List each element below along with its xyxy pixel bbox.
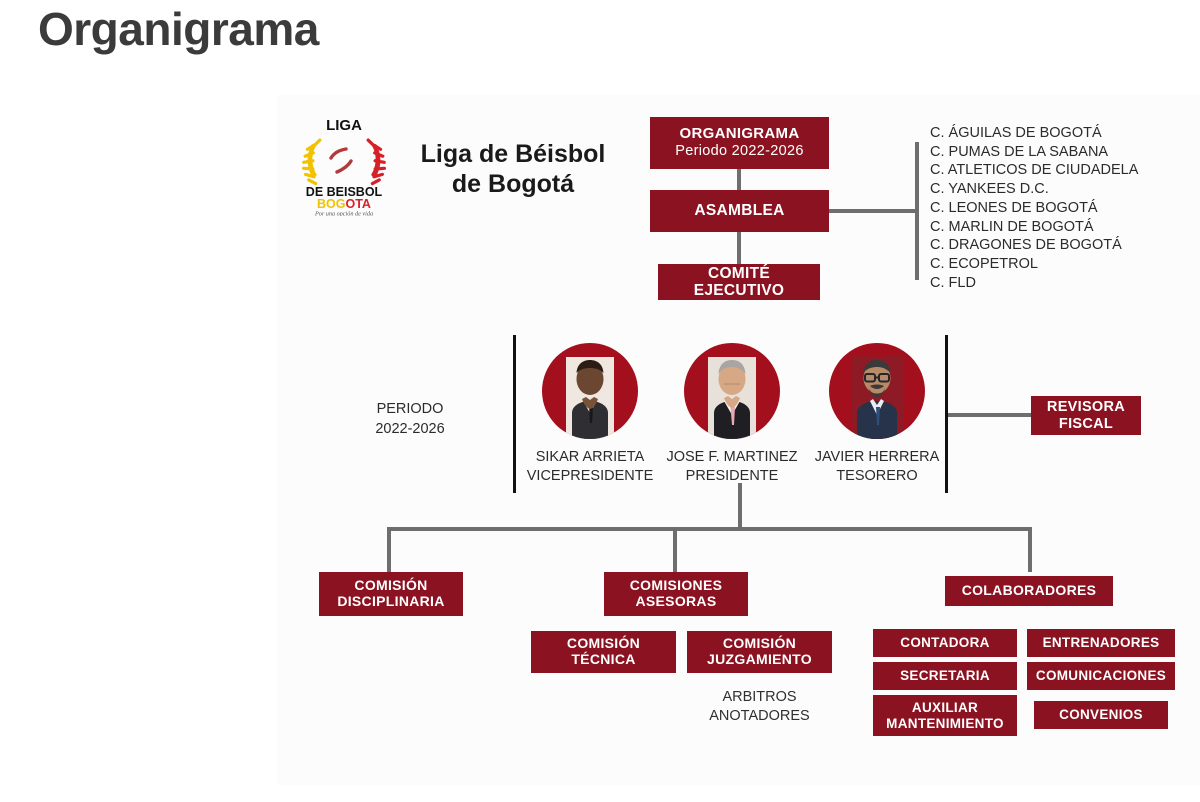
box-comision-juzgamiento[interactable]: COMISIÓN JUZGAMIENTO <box>687 631 832 673</box>
advisory-note-arbitros: ARBITROS <box>687 688 832 707</box>
svg-text:Por una opción de vida: Por una opción de vida <box>314 211 373 217</box>
list-item: C. LEONES DE BOGOTÁ <box>930 199 1138 218</box>
organization-name: Liga de Béisbol de Bogotá <box>398 140 628 199</box>
box-contadora[interactable]: CONTADORA <box>873 629 1017 657</box>
revisora-fiscal-line-2: FISCAL <box>1059 416 1113 432</box>
list-item: C. YANKEES D.C. <box>930 180 1138 199</box>
box-comite-ejecutivo[interactable]: COMITÉ EJECUTIVO <box>658 264 820 300</box>
portrait-sikar-arrieta <box>542 343 638 439</box>
list-item: C. MARLIN DE BOGOTÁ <box>930 218 1138 237</box>
comisiones-asesoras-line-1: COMISIONES <box>630 578 722 594</box>
box-comunicaciones[interactable]: COMUNICACIONES <box>1027 662 1175 690</box>
organigrama-header-line-1: ORGANIGRAMA <box>680 126 800 143</box>
period-label: PERIODO 2022-2026 <box>370 399 450 440</box>
box-revisora-fiscal[interactable]: REVISORA FISCAL <box>1031 396 1141 435</box>
list-item: C. FLD <box>930 274 1138 293</box>
contadora-label: CONTADORA <box>900 635 989 650</box>
connector-president-drop <box>738 483 742 531</box>
connector-header-to-asamblea <box>737 169 741 190</box>
avatar <box>684 343 780 439</box>
advisory-notes: ARBITROS ANOTADORES <box>687 688 832 726</box>
person-role: PRESIDENTE <box>657 467 807 486</box>
person-card-vicepresidente[interactable]: SIKAR ARRIETA VICEPRESIDENTE <box>515 343 665 485</box>
box-entrenadores[interactable]: ENTRENADORES <box>1027 629 1175 657</box>
avatar <box>542 343 638 439</box>
person-name: SIKAR ARRIETA <box>515 448 665 467</box>
comision-disciplinaria-line-1: COMISIÓN <box>354 578 427 594</box>
connector-branch-bus <box>387 527 1032 531</box>
person-card-tesorero[interactable]: JAVIER HERRERA TESORERO <box>802 343 952 485</box>
club-list: C. ÁGUILAS DE BOGOTÁ C. PUMAS DE LA SABA… <box>930 124 1138 292</box>
list-item: C. PUMAS DE LA SABANA <box>930 143 1138 162</box>
list-item: C. DRAGONES DE BOGOTÁ <box>930 236 1138 255</box>
connector-drop-asesoras <box>673 527 677 572</box>
box-auxiliar-mantenimiento[interactable]: AUXILIAR MANTENIMIENTO <box>873 695 1017 736</box>
box-colaboradores[interactable]: COLABORADORES <box>945 576 1113 606</box>
comision-disciplinaria-line-2: DISCIPLINARIA <box>337 594 444 610</box>
comisiones-asesoras-line-2: ASESORAS <box>636 594 717 610</box>
secretaria-label: SECRETARIA <box>900 668 990 683</box>
box-comisiones-asesoras[interactable]: COMISIONES ASESORAS <box>604 572 748 616</box>
comunicaciones-label: COMUNICACIONES <box>1036 668 1166 683</box>
avatar <box>829 343 925 439</box>
asamblea-label: ASAMBLEA <box>694 202 784 219</box>
comite-ejecutivo-label: COMITÉ EJECUTIVO <box>664 265 814 300</box>
advisory-note-anotadores: ANOTADORES <box>687 707 832 726</box>
portrait-javier-herrera <box>829 343 925 439</box>
liga-beisbol-logo: LIGA <box>296 114 392 216</box>
revisora-fiscal-line-1: REVISORA <box>1047 399 1125 415</box>
box-secretaria[interactable]: SECRETARIA <box>873 662 1017 690</box>
box-comision-disciplinaria[interactable]: COMISIÓN DISCIPLINARIA <box>319 572 463 616</box>
person-role: TESORERO <box>802 467 952 486</box>
period-line-1: PERIODO <box>370 399 450 419</box>
connector-drop-colaboradores <box>1028 527 1032 572</box>
organigrama-header-line-2: Periodo 2022-2026 <box>675 143 803 159</box>
colaboradores-label: COLABORADORES <box>962 583 1097 599</box>
person-card-presidente[interactable]: JOSE F. MARTINEZ PRESIDENTE <box>657 343 807 485</box>
comision-tecnica-line-2: TÉCNICA <box>571 652 635 668</box>
list-item: C. ÁGUILAS DE BOGOTÁ <box>930 124 1138 143</box>
list-item: C. ECOPETROL <box>930 255 1138 274</box>
person-name: JAVIER HERRERA <box>802 448 952 467</box>
connector-asamblea-to-comite <box>737 232 741 264</box>
list-item: C. ATLETICOS DE CIUDADELA <box>930 161 1138 180</box>
convenios-label: CONVENIOS <box>1059 707 1143 722</box>
period-line-2: 2022-2026 <box>370 419 450 439</box>
logo-graphic: LIGA <box>296 114 392 216</box>
comision-juzgamiento-line-1: COMISIÓN <box>723 636 796 652</box>
portrait-jose-martinez <box>684 343 780 439</box>
box-comision-tecnica[interactable]: COMISIÓN TÉCNICA <box>531 631 676 673</box>
svg-text:BOGOTA: BOGOTA <box>317 197 371 211</box>
entrenadores-label: ENTRENADORES <box>1043 635 1160 650</box>
svg-text:LIGA: LIGA <box>326 117 362 134</box>
connector-asamblea-to-clubs <box>829 209 919 213</box>
club-bracket-line <box>915 142 919 280</box>
page-title: Organigrama <box>38 4 319 55</box>
box-organigrama-header[interactable]: ORGANIGRAMA Periodo 2022-2026 <box>650 117 829 169</box>
auxiliar-mantenimiento-line-1: AUXILIAR <box>912 700 978 715</box>
box-asamblea[interactable]: ASAMBLEA <box>650 190 829 232</box>
comision-tecnica-line-1: COMISIÓN <box>567 636 640 652</box>
person-name: JOSE F. MARTINEZ <box>657 448 807 467</box>
connector-to-revisora-fiscal <box>948 413 1032 417</box>
box-convenios[interactable]: CONVENIOS <box>1034 701 1168 729</box>
connector-drop-disciplinaria <box>387 527 391 572</box>
org-name-line-2: de Bogotá <box>398 170 628 200</box>
comision-juzgamiento-line-2: JUZGAMIENTO <box>707 652 812 668</box>
auxiliar-mantenimiento-line-2: MANTENIMIENTO <box>886 716 1004 731</box>
org-name-line-1: Liga de Béisbol <box>398 140 628 170</box>
person-role: VICEPRESIDENTE <box>515 467 665 486</box>
